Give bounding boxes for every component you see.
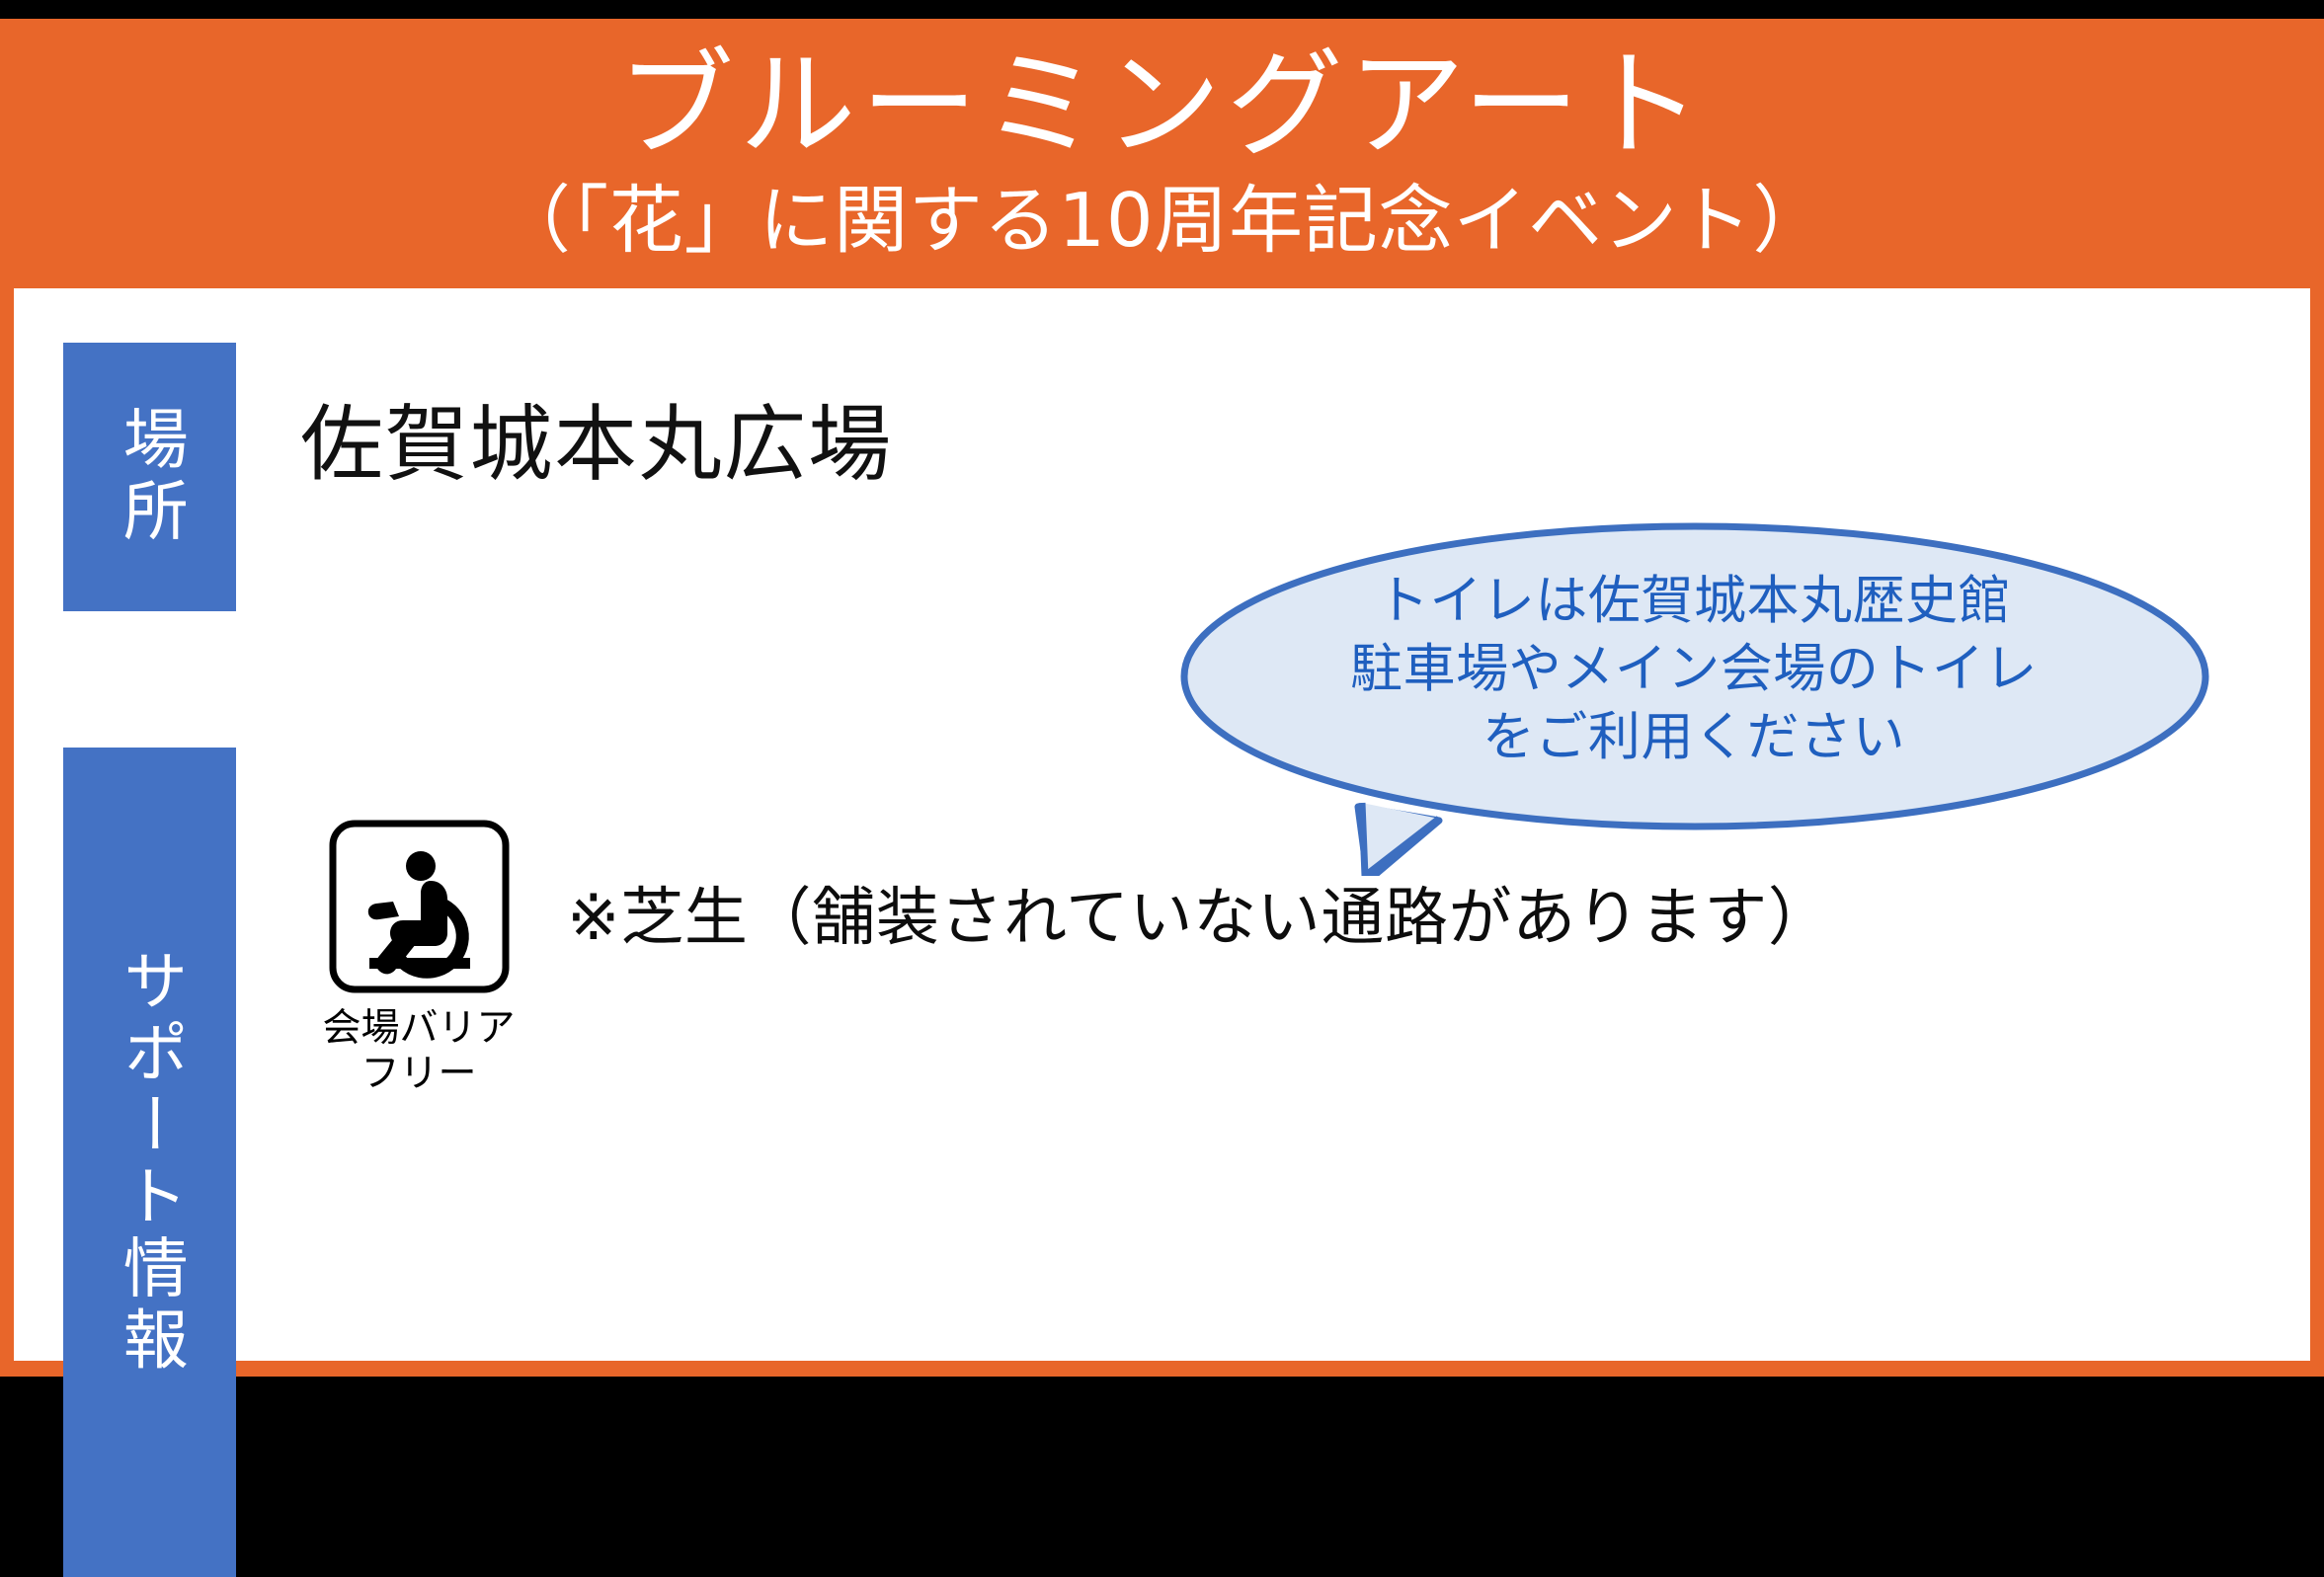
barrier-free-caption: 会場バリア フリー bbox=[315, 1006, 522, 1097]
bubble-line-1: トイレは佐賀城本丸歴史館 bbox=[1269, 568, 2119, 636]
top-black-strip bbox=[0, 0, 2324, 19]
bubble-tail-overlay bbox=[1362, 803, 1439, 876]
section-tab-support: サポート情報 bbox=[63, 748, 236, 1577]
bubble-line-2: 駐車場やメイン会場のトイレ bbox=[1269, 636, 2119, 704]
poster-header-band: ブルーミングアート （「花」に関する10周年記念イベント） bbox=[0, 19, 2324, 288]
bubble-line-3: をご利用ください bbox=[1269, 704, 2119, 772]
wheelchair-accessible-icon-svg bbox=[328, 819, 511, 994]
poster-body-frame: 場所 佐賀城本丸広場 サポート情報 トイレは佐賀城本丸歴史館 駐車場やメイン会場… bbox=[0, 288, 2324, 1377]
poster-body: 場所 佐賀城本丸広場 サポート情報 トイレは佐賀城本丸歴史館 駐車場やメイン会場… bbox=[14, 288, 2310, 1361]
event-poster: ブルーミングアート （「花」に関する10周年記念イベント） 場所 佐賀城本丸広場… bbox=[0, 0, 2324, 1377]
barrier-free-badge: 会場バリア フリー bbox=[315, 819, 522, 1097]
venue-name: 佐賀城本丸広場 bbox=[300, 399, 893, 490]
restroom-info-bubble: トイレは佐賀城本丸歴史館 駐車場やメイン会場のトイレ をご利用ください bbox=[1174, 511, 2216, 876]
wheelchair-accessible-icon bbox=[328, 819, 511, 994]
surface-note: ※芝生（舗装されていない通路があります） bbox=[567, 881, 1832, 957]
poster-subtitle: （「花」に関する10周年記念イベント） bbox=[497, 178, 1827, 263]
poster-title: ブルーミングアート bbox=[617, 37, 1707, 174]
barrier-free-caption-line-2: フリー bbox=[315, 1052, 522, 1097]
bubble-text-block: トイレは佐賀城本丸歴史館 駐車場やメイン会場のトイレ をご利用ください bbox=[1269, 568, 2119, 772]
barrier-free-caption-line-1: 会場バリア bbox=[315, 1006, 522, 1052]
section-tab-venue: 場所 bbox=[63, 343, 236, 611]
